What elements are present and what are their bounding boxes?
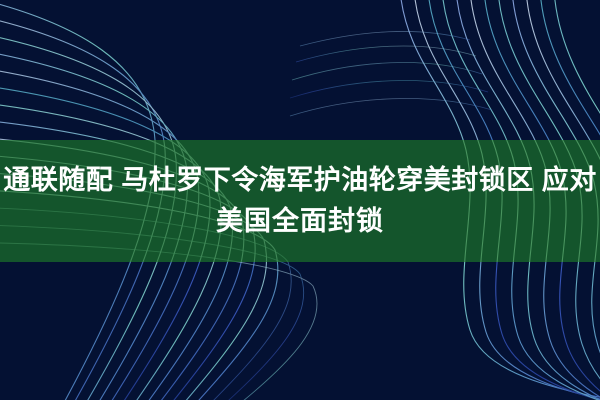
- headline-line-2: 美国全面封锁: [216, 201, 384, 242]
- headline-line-1: 通联随配 马杜罗下令海军护油轮穿美封锁区 应对: [3, 160, 597, 201]
- wave-group-ripples: [290, 31, 492, 116]
- banner-image: 通联随配 马杜罗下令海军护油轮穿美封锁区 应对 美国全面封锁: [0, 0, 600, 400]
- headline-text-block: 通联随配 马杜罗下令海军护油轮穿美封锁区 应对 美国全面封锁: [0, 140, 600, 262]
